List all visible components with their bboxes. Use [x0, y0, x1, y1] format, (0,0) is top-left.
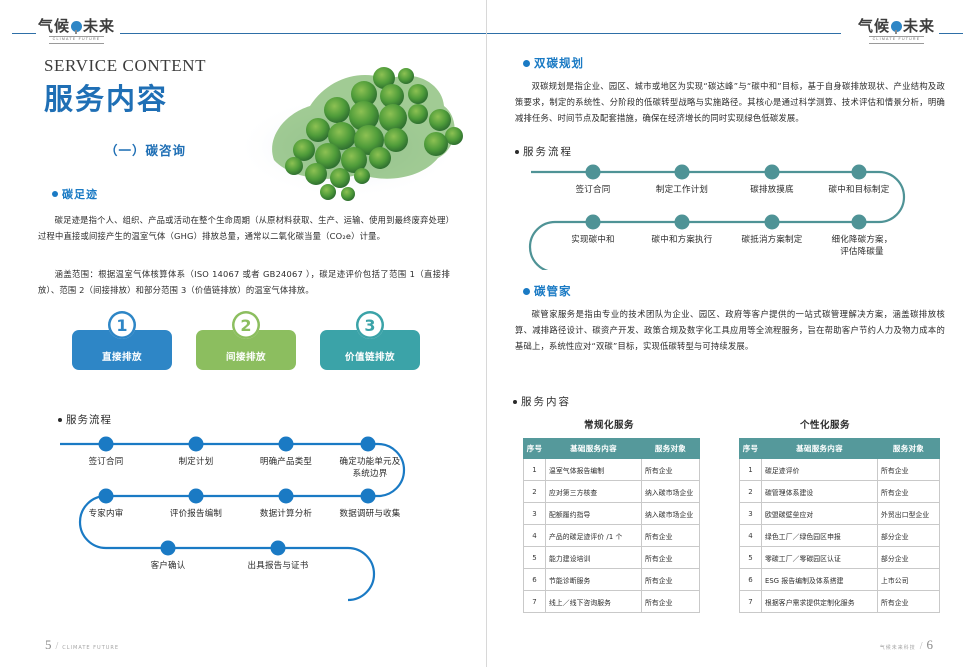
- brochure-spread: 气候 未来 CLIMATE FUTURE SERVICE CONTENT 服务内…: [0, 0, 975, 667]
- flow-node-label: 明确产品类型: [260, 456, 312, 468]
- table-row: 1温室气体报告编制所有企业: [524, 459, 700, 481]
- flow-node-label: 数据调研与收集: [340, 508, 401, 520]
- col-header-content: 基础服务内容: [762, 439, 878, 459]
- flow-node-label: 签订合同: [576, 184, 611, 196]
- table-row: 6节能诊断服务所有企业: [524, 569, 700, 591]
- flow-node-label: 签订合同: [89, 456, 124, 468]
- bullet-dot-icon: [58, 418, 62, 422]
- table-row: 3配额履约指导纳入碳市场企业: [524, 503, 700, 525]
- table-row: 4产品的碳足迹评价 /1 个所有企业: [524, 525, 700, 547]
- cell-service-target: 部分企业: [878, 547, 940, 569]
- heading-carbon-butler: 碳管家: [523, 283, 572, 299]
- flow-node-label: 碳抵消方案制定: [742, 234, 803, 246]
- heading-dual-carbon: 双碳规划: [523, 55, 584, 71]
- page-right: 气候 未来 CLIMATE FUTURE 双碳规划 双碳规划是指企业、园区、城市…: [487, 0, 975, 667]
- cell-service-target: 部分企业: [878, 525, 940, 547]
- heading-carbon-footprint: 碳足迹: [52, 186, 98, 202]
- footer-left: 5 / CLIMATE FUTURE: [45, 637, 119, 653]
- cell-index: 7: [740, 591, 762, 613]
- table-row: 1碳足迹评价所有企业: [740, 459, 940, 481]
- cell-index: 6: [740, 569, 762, 591]
- service-flow-diagram-right: 签订合同 制定工作计划 碳排放摸底 碳中和目标制定 实现碳中和 碳中和方案执行 …: [507, 160, 947, 270]
- logo-zh-right: 未来: [903, 19, 935, 34]
- footer-right: 气候未来科技 / 6: [880, 637, 933, 653]
- cell-index: 1: [524, 459, 546, 481]
- cell-service-content: 碳管理体系建设: [762, 481, 878, 503]
- flow-node-label: 实现碳中和: [571, 234, 615, 246]
- scope-badge-label: 直接排放: [102, 349, 142, 363]
- cell-service-target: 所有企业: [642, 459, 700, 481]
- heading-label: 服务流程: [66, 412, 112, 427]
- col-header-target: 服务对象: [642, 439, 700, 459]
- cell-index: 4: [524, 525, 546, 547]
- table-caption-standard: 常规化服务: [584, 417, 634, 431]
- logo-tagline: CLIMATE FUTURE: [869, 36, 925, 44]
- flow-node-label: 碳排放摸底: [750, 184, 794, 196]
- table-row: 5能力建设培训所有企业: [524, 547, 700, 569]
- logo-left: 气候 未来 CLIMATE FUTURE: [38, 19, 115, 44]
- scope-badge-2[interactable]: 2 间接排放: [196, 330, 296, 370]
- col-header-index: 序号: [740, 439, 762, 459]
- paragraph-text: 碳足迹是指个人、组织、产品或活动在整个生命周期（从原材料获取、生产、运输、使用到…: [38, 212, 450, 244]
- cell-service-target: 纳入碳市场企业: [642, 481, 700, 503]
- table-custom-services: 序号 基础服务内容 服务对象 1碳足迹评价所有企业2碳管理体系建设所有企业3欧盟…: [739, 438, 940, 613]
- cell-service-content: 温室气体报告编制: [546, 459, 642, 481]
- paragraph-text: 碳管家服务是指由专业的技术团队为企业、园区、政府等客户提供的一站式碳管理解决方案…: [515, 306, 945, 354]
- page-number: 6: [927, 637, 934, 653]
- heading-label: 服务流程: [523, 144, 573, 159]
- cell-service-content: ESG 报告编制及体系搭建: [762, 569, 878, 591]
- table-row: 2应对第三方核查纳入碳市场企业: [524, 481, 700, 503]
- cell-service-target: 所有企业: [878, 481, 940, 503]
- cell-service-target: 外贸出口型企业: [878, 503, 940, 525]
- logo-tagline: CLIMATE FUTURE: [49, 36, 105, 44]
- logo-right: 气候 未来 CLIMATE FUTURE: [858, 19, 935, 44]
- heading-service-flow-left: 服务流程: [58, 412, 112, 427]
- cell-service-content: 配额履约指导: [546, 503, 642, 525]
- heading-service-flow-right: 服务流程: [515, 144, 573, 159]
- cell-service-content: 节能诊断服务: [546, 569, 642, 591]
- col-header-content: 基础服务内容: [546, 439, 642, 459]
- globe-icon: [71, 21, 82, 32]
- cell-service-target: 所有企业: [642, 547, 700, 569]
- bullet-dot-icon: [513, 400, 517, 404]
- logo-text: 气候 未来: [858, 19, 935, 34]
- footer-slash: /: [56, 641, 59, 652]
- scope-badge-group: 1 直接排放 2 间接排放 3 价值链排放: [72, 330, 420, 370]
- page-title-en: SERVICE CONTENT: [44, 56, 206, 76]
- logo-text: 气候 未来: [38, 19, 115, 34]
- cell-service-content: 欧盟碳壁垒应对: [762, 503, 878, 525]
- paragraph-dual-carbon: 双碳规划是指企业、园区、城市或地区为实现“碳达峰”与“碳中和”目标，基于自身碳排…: [515, 78, 945, 126]
- cell-index: 2: [740, 481, 762, 503]
- footer-slash: /: [920, 641, 923, 652]
- scope-badge-number: 3: [356, 311, 384, 339]
- scope-badge-number: 2: [232, 311, 260, 339]
- table-row: 7线上／线下咨询服务所有企业: [524, 591, 700, 613]
- flow-node-label: 专家内审: [89, 508, 124, 520]
- cell-index: 4: [740, 525, 762, 547]
- paragraph-carbon-footprint-1: 碳足迹是指个人、组织、产品或活动在整个生命周期（从原材料获取、生产、运输、使用到…: [38, 212, 450, 244]
- footer-text: 气候未来科技: [880, 644, 916, 651]
- scope-badge-number: 1: [108, 311, 136, 339]
- table-caption-custom: 个性化服务: [800, 417, 850, 431]
- cell-service-content: 线上／线下咨询服务: [546, 591, 642, 613]
- cell-service-content: 产品的碳足迹评价 /1 个: [546, 525, 642, 547]
- cell-index: 3: [740, 503, 762, 525]
- cell-index: 5: [740, 547, 762, 569]
- heading-label: 双碳规划: [534, 55, 584, 71]
- cell-service-target: 所有企业: [642, 569, 700, 591]
- cell-service-content: 根据客户需求提供定制化服务: [762, 591, 878, 613]
- bullet-dot-icon: [52, 191, 58, 197]
- flow-node-label: 确定功能单元及 系统边界: [331, 456, 409, 480]
- flow-node-label: 碳中和目标制定: [829, 184, 890, 196]
- table-row: 2碳管理体系建设所有企业: [740, 481, 940, 503]
- paragraph-text: 双碳规划是指企业、园区、城市或地区为实现“碳达峰”与“碳中和”目标，基于自身碳排…: [515, 78, 945, 126]
- cell-service-target: 所有企业: [642, 591, 700, 613]
- cell-service-content: 碳足迹评价: [762, 459, 878, 481]
- flow-node-label: 制定工作计划: [656, 184, 708, 196]
- service-flow-diagram-left: 签订合同 制定计划 明确产品类型 确定功能单元及 系统边界 专家内审 评价报告编…: [48, 430, 448, 630]
- table-row: 6ESG 报告编制及体系搭建上市公司: [740, 569, 940, 591]
- paragraph-carbon-footprint-2: 涵盖范围：根据温室气体核算体系（ISO 14067 或者 GB24067 ），碳…: [38, 266, 450, 298]
- heading-label: 碳足迹: [62, 186, 98, 202]
- section-label: （一）碳咨询: [105, 140, 186, 159]
- flow-node-label: 制定计划: [179, 456, 214, 468]
- page-number: 5: [45, 637, 52, 653]
- cell-index: 1: [740, 459, 762, 481]
- page-title-zh: 服务内容: [44, 76, 168, 118]
- globe-icon: [891, 21, 902, 32]
- logo-zh-left: 气候: [38, 19, 70, 34]
- table-row: 5零碳工厂／零碳园区认证部分企业: [740, 547, 940, 569]
- cell-index: 2: [524, 481, 546, 503]
- cell-service-content: 能力建设培训: [546, 547, 642, 569]
- col-header-target: 服务对象: [878, 439, 940, 459]
- cell-service-target: 上市公司: [878, 569, 940, 591]
- table-standard-services: 序号 基础服务内容 服务对象 1温室气体报告编制所有企业2应对第三方核查纳入碳市…: [523, 438, 700, 613]
- table-row: 3欧盟碳壁垒应对外贸出口型企业: [740, 503, 940, 525]
- table-row: 7根据客户需求提供定制化服务所有企业: [740, 591, 940, 613]
- footer-text: CLIMATE FUTURE: [62, 645, 119, 651]
- heading-service-content: 服务内容: [513, 394, 571, 409]
- scope-badge-label: 间接排放: [226, 349, 266, 363]
- cell-service-target: 所有企业: [878, 591, 940, 613]
- cell-service-content: 应对第三方核查: [546, 481, 642, 503]
- cell-index: 6: [524, 569, 546, 591]
- cell-service-target: 纳入碳市场企业: [642, 503, 700, 525]
- paragraph-carbon-butler: 碳管家服务是指由专业的技术团队为企业、园区、政府等客户提供的一站式碳管理解决方案…: [515, 306, 945, 354]
- flow-node-label: 客户确认: [151, 560, 186, 572]
- cell-service-content: 零碳工厂／零碳园区认证: [762, 547, 878, 569]
- flow-node-label: 评价报告编制: [170, 508, 222, 520]
- paragraph-text: 涵盖范围：根据温室气体核算体系（ISO 14067 或者 GB24067 ），碳…: [38, 266, 450, 298]
- table-row: 4绿色工厂／绿色园区申报部分企业: [740, 525, 940, 547]
- heading-label: 碳管家: [534, 283, 572, 299]
- flow-node-label: 数据计算分析: [260, 508, 312, 520]
- cell-index: 3: [524, 503, 546, 525]
- flow-node-label: 出具报告与证书: [248, 560, 309, 572]
- table-header-row: 序号 基础服务内容 服务对象: [524, 439, 700, 459]
- forest-illustration: [236, 52, 466, 207]
- bullet-dot-icon: [523, 288, 530, 295]
- logo-zh-right: 未来: [83, 19, 115, 34]
- cell-service-target: 所有企业: [878, 459, 940, 481]
- flow-node-label: 细化降碳方案， 评估降碳量: [820, 234, 904, 258]
- bullet-dot-icon: [523, 60, 530, 67]
- heading-label: 服务内容: [521, 394, 571, 409]
- col-header-index: 序号: [524, 439, 546, 459]
- flow-node-label: 碳中和方案执行: [652, 234, 713, 246]
- scope-badge-label: 价值链排放: [345, 349, 395, 363]
- cell-index: 5: [524, 547, 546, 569]
- page-left: 气候 未来 CLIMATE FUTURE SERVICE CONTENT 服务内…: [0, 0, 487, 667]
- logo-zh-left: 气候: [858, 19, 890, 34]
- bullet-dot-icon: [515, 150, 519, 154]
- cell-service-target: 所有企业: [642, 525, 700, 547]
- scope-badge-3[interactable]: 3 价值链排放: [320, 330, 420, 370]
- cell-index: 7: [524, 591, 546, 613]
- table-header-row: 序号 基础服务内容 服务对象: [740, 439, 940, 459]
- cell-service-content: 绿色工厂／绿色园区申报: [762, 525, 878, 547]
- scope-badge-1[interactable]: 1 直接排放: [72, 330, 172, 370]
